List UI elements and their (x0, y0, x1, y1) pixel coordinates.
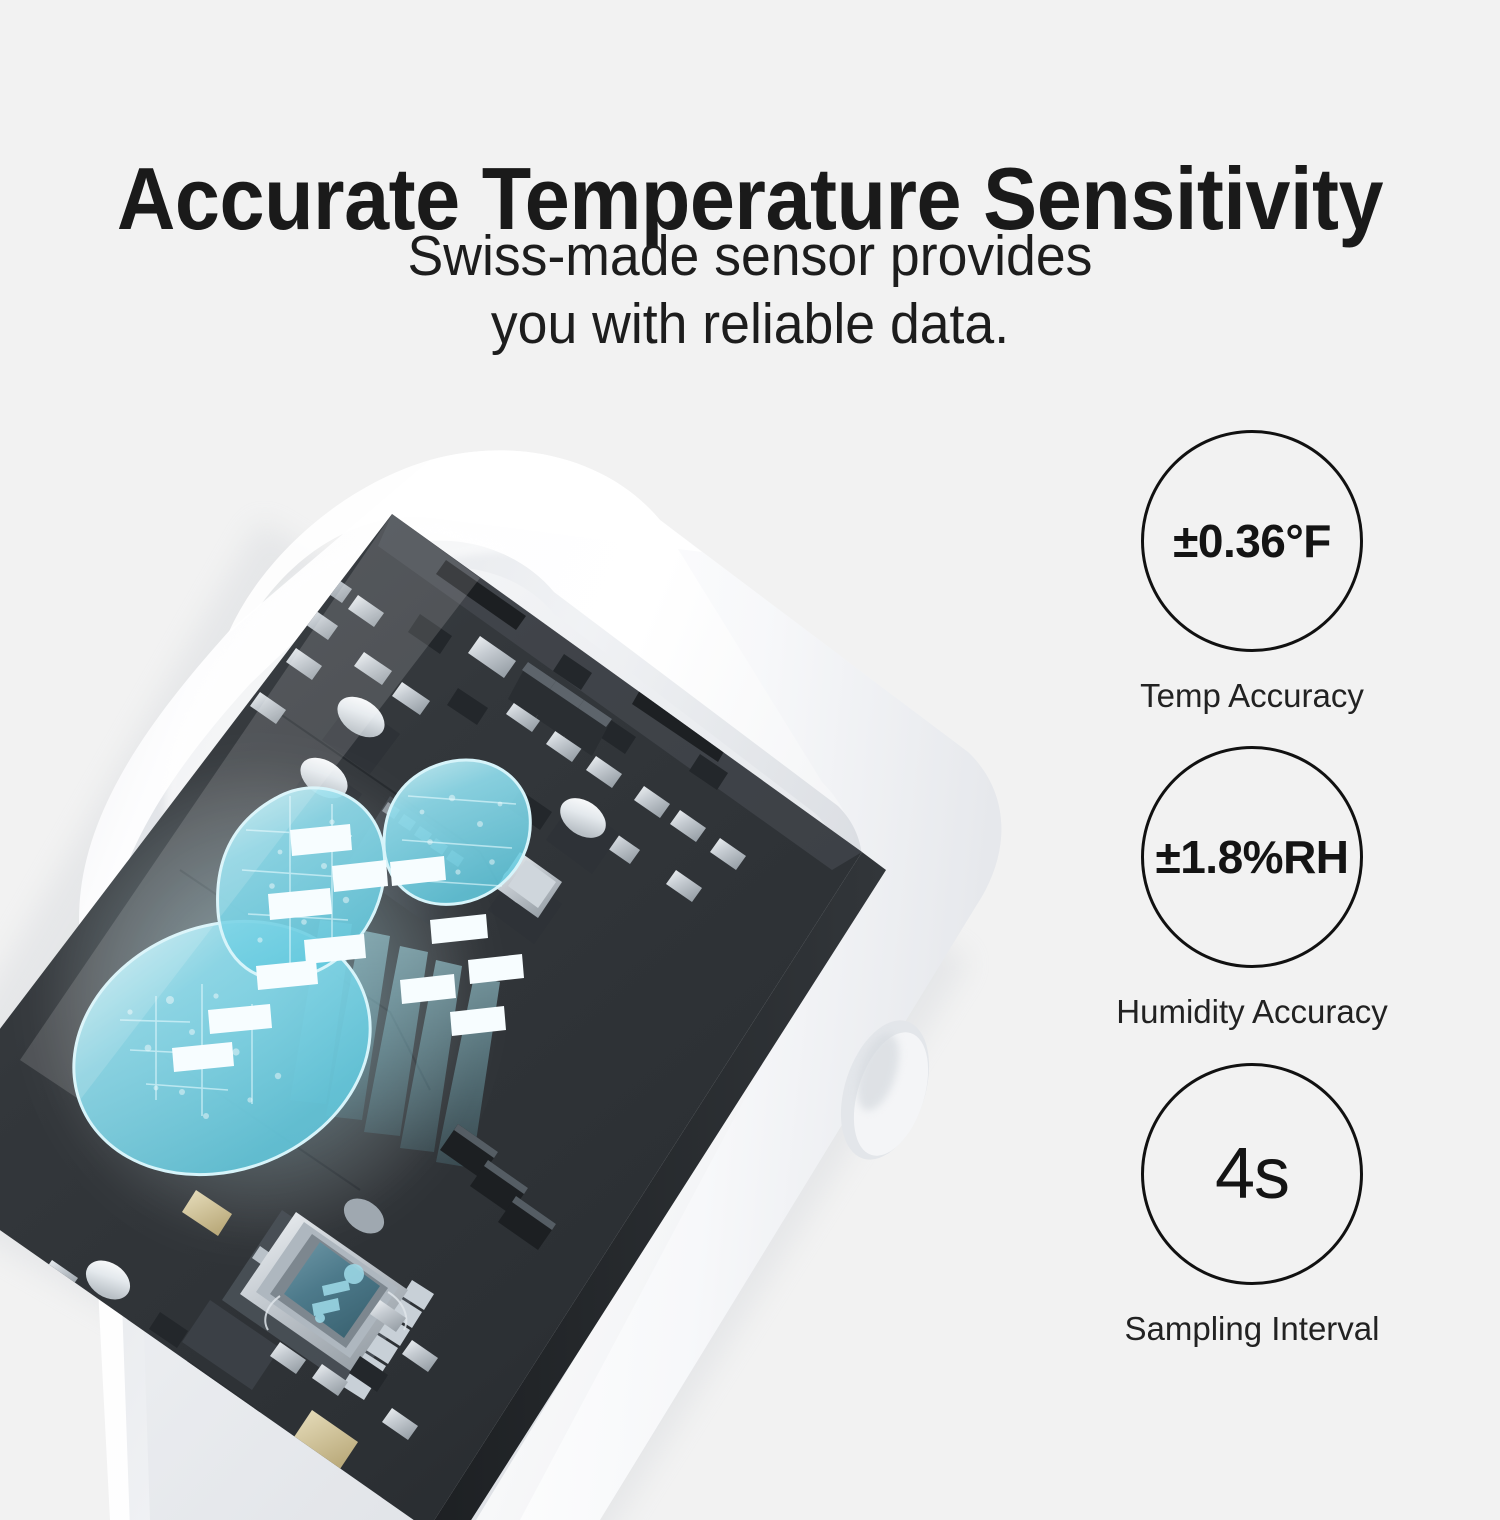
spec-badge-temp-accuracy: ±0.36°F Temp Accuracy (1092, 430, 1412, 714)
spec-label-sampling-interval: Sampling Interval (1092, 1311, 1412, 1347)
spec-circle-sampling-interval: 4s (1141, 1063, 1363, 1285)
capacitor (286, 749, 362, 836)
capacitor (488, 860, 562, 944)
spec-circle-temp-accuracy: ±0.36°F (1141, 430, 1363, 652)
capacitor (546, 790, 620, 874)
spec-badge-list: ±0.36°F Temp Accuracy ±1.8%RH Humidity A… (1092, 430, 1412, 1379)
product-image (0, 400, 1080, 1520)
product-feature-banner: Accurate Temperature Sensitivity Swiss-m… (0, 0, 1500, 1500)
hologram-sensor-overlay (35, 760, 530, 1218)
chip (346, 796, 480, 930)
spec-circle-humidity-accuracy: ±1.8%RH (1141, 746, 1363, 968)
spec-badge-sampling-interval: 4s Sampling Interval (1092, 1063, 1412, 1347)
spec-value-humidity-accuracy: ±1.8%RH (1155, 834, 1348, 880)
sensor-chip (222, 1210, 434, 1400)
subtitle: Swiss-made sensor provides you with reli… (45, 222, 1455, 359)
subtitle-line-2: you with reliable data. (45, 290, 1455, 358)
spec-label-humidity-accuracy: Humidity Accuracy (1092, 994, 1412, 1030)
spec-label-temp-accuracy: Temp Accuracy (1092, 678, 1412, 714)
housing-button-recess (825, 1009, 946, 1171)
capacitor (322, 688, 400, 774)
spec-value-temp-accuracy: ±0.36°F (1173, 518, 1331, 564)
pcb-components-top (250, 560, 746, 944)
pcb-components-bottom (0, 1124, 556, 1520)
spec-value-sampling-interval: 4s (1215, 1138, 1289, 1210)
spec-badge-humidity-accuracy: ±1.8%RH Humidity Accuracy (1092, 746, 1412, 1030)
subtitle-line-1: Swiss-made sensor provides (45, 222, 1455, 290)
